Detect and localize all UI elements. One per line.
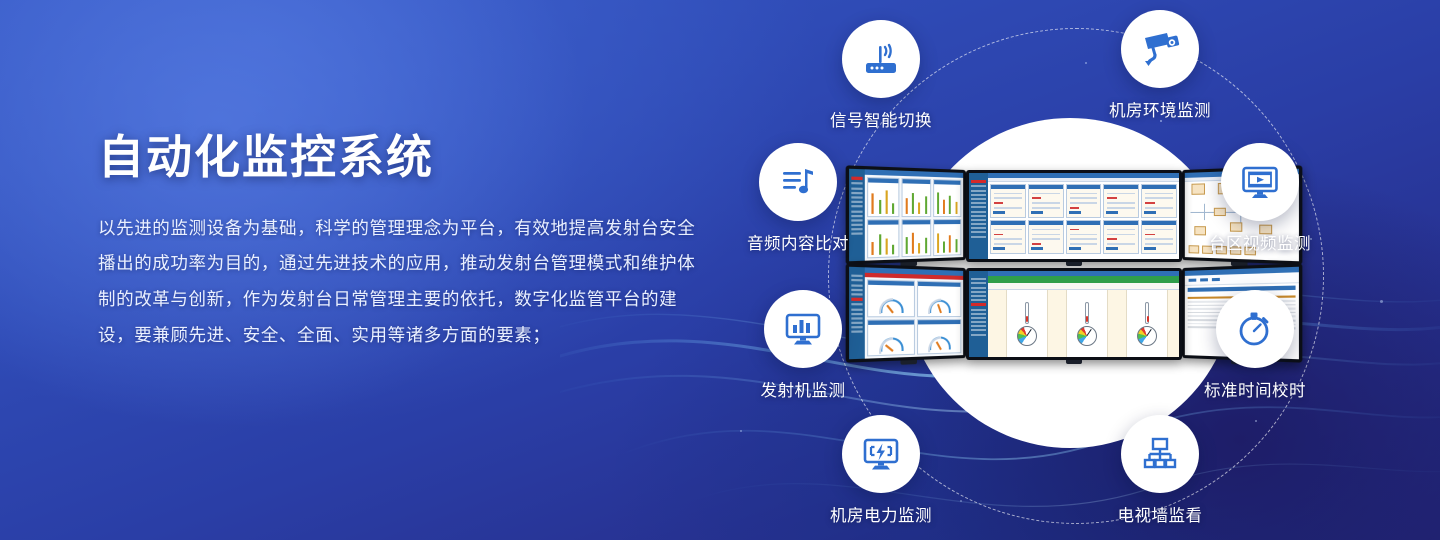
feature-time-sync[interactable]: 标准时间校时 <box>1170 290 1340 401</box>
feature-label: 信号智能切换 <box>796 107 966 131</box>
sitemap-screens-icon <box>1121 415 1199 493</box>
monitor-bottom-center <box>966 268 1182 360</box>
monitor-video-play-icon <box>1221 143 1299 221</box>
hero-description: 以先进的监测设备为基础，科学的管理理念为平台，有效地提高发射台安全播出的成功率为… <box>98 211 698 355</box>
screen-sidebar <box>969 173 988 259</box>
feature-label: 机房电力监测 <box>796 502 966 526</box>
router-wifi-icon <box>842 20 920 98</box>
feature-label: 发射机监测 <box>718 377 888 401</box>
feature-room-environment[interactable]: 机房环境监测 <box>1075 10 1245 121</box>
feature-audio-compare[interactable]: 音频内容比对 <box>713 143 883 254</box>
feature-label: 音频内容比对 <box>713 230 883 254</box>
music-note-lines-icon <box>759 143 837 221</box>
screen-sidebar <box>969 271 988 357</box>
feature-diagram: 信号智能切换 机房环境监测 <box>700 0 1440 540</box>
hero-banner: 自动化监控系统 以先进的监测设备为基础，科学的管理理念为平台，有效地提高发射台安… <box>0 0 1440 540</box>
monitor-top-center <box>966 170 1182 262</box>
cctv-camera-icon <box>1121 10 1199 88</box>
feature-signal-switch[interactable]: 信号智能切换 <box>796 20 966 131</box>
screen-status-bar <box>988 276 1179 283</box>
thermometer-dial-panel <box>988 290 1179 357</box>
feature-area-video[interactable]: 台区视频监测 <box>1175 143 1345 254</box>
feature-label: 机房环境监测 <box>1075 97 1245 121</box>
monitor-bar-chart-icon <box>764 290 842 368</box>
feature-transmitter-monitor[interactable]: 发射机监测 <box>718 290 888 401</box>
stopwatch-icon <box>1216 290 1294 368</box>
page-title: 自动化监控系统 <box>98 132 698 183</box>
feature-room-power[interactable]: 机房电力监测 <box>796 415 966 526</box>
feature-label: 台区视频监测 <box>1175 230 1345 254</box>
hero-copy: 自动化监控系统 以先进的监测设备为基础，科学的管理理念为平台，有效地提高发射台安… <box>98 132 698 354</box>
monitor-battery-bolt-icon <box>842 415 920 493</box>
feature-label: 电视墙监看 <box>1075 502 1245 526</box>
status-card-grid <box>988 182 1179 244</box>
feature-tv-wall[interactable]: 电视墙监看 <box>1075 415 1245 526</box>
feature-label: 标准时间校时 <box>1170 377 1340 401</box>
